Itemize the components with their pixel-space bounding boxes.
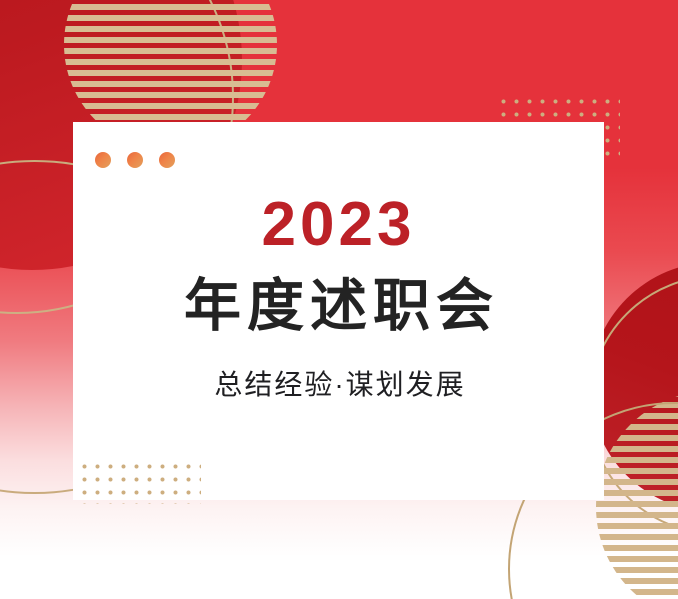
window-dots-group [95,152,175,168]
subtitle: 总结经验·谋划发展 [73,368,604,402]
dots-bottom-left-icon [75,457,201,504]
content-card: 2023 年度述职会 总结经验·谋划发展 [73,122,604,500]
year-label: 2023 [73,194,604,256]
window-dot-1-icon [95,152,111,168]
window-dot-3-icon [159,152,175,168]
card-text-block: 2023 年度述职会 总结经验·谋划发展 [73,194,604,401]
poster-canvas: 2023 年度述职会 总结经验·谋划发展 [0,0,678,599]
page-title: 年度述职会 [73,274,604,340]
window-dot-2-icon [127,152,143,168]
